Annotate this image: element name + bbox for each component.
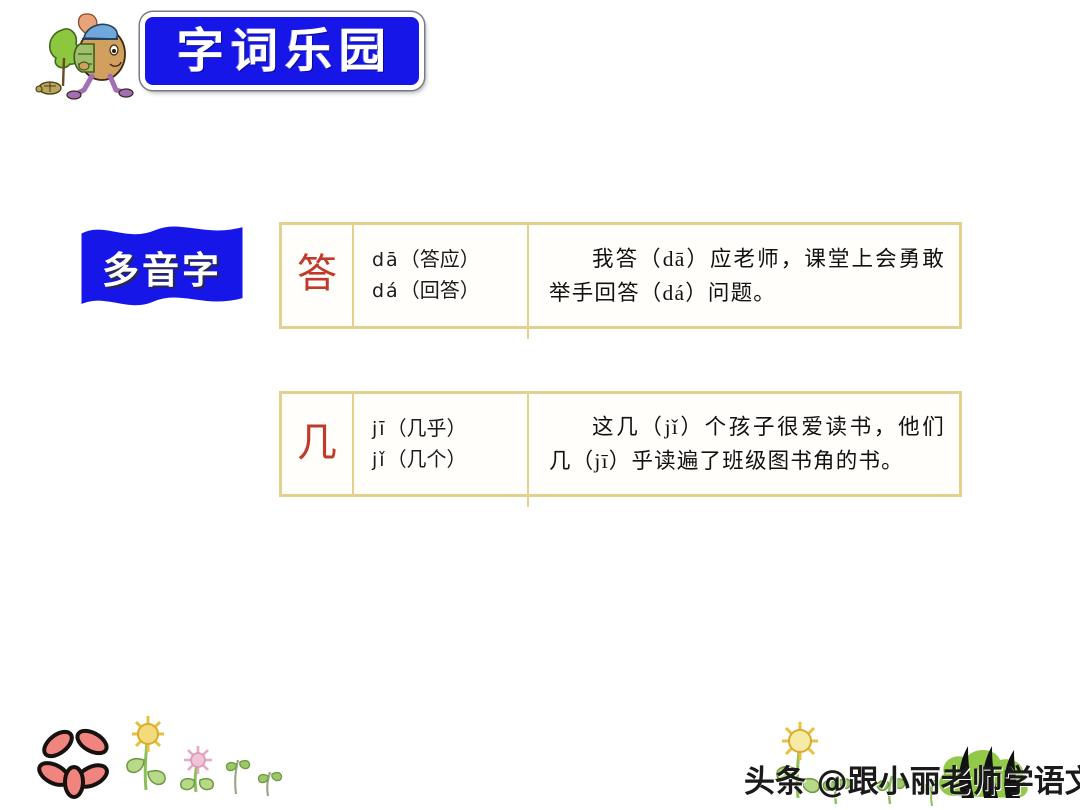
slide-canvas: 字词乐园 多音字 答 dā（答应） dá（回答） 我答（dā）应老师，课堂上会勇… (0, 0, 1080, 810)
entry-example-cell: 这几（jǐ）个孩子很爱读书，他们几（jī）乎读遍了班级图书角的书。 (529, 394, 959, 494)
entry-character-cell: 几 (282, 394, 354, 494)
entry-character: 几 (297, 423, 337, 466)
pinyin-word: （几个） (387, 449, 467, 471)
section-label-text: 多音字 (74, 216, 250, 316)
table-divider-tail (527, 495, 529, 507)
pinyin-syllable: dá (372, 280, 400, 302)
section-label-flag: 多音字 (74, 216, 250, 316)
pinyin-line: dā（答应） (372, 250, 527, 270)
pinyin-word: （回答） (400, 280, 480, 302)
watermark-text: 头条 @跟小丽老师学语文 (744, 756, 1080, 801)
page-title: 字词乐园 (171, 28, 393, 75)
pinyin-syllable: jǐ (372, 449, 387, 471)
polyphone-entry-table: 几 jī（几乎） jǐ（几个） 这几（jǐ）个孩子很爱读书，他们几（jī）乎读遍… (279, 391, 962, 497)
page-title-banner: 字词乐园 (140, 12, 424, 90)
example-sentence: 我答（dā）应老师，课堂上会勇敢举手回答（dá）问题。 (549, 242, 945, 310)
example-sentence: 这几（jǐ）个孩子很爱读书，他们几（jī）乎读遍了班级图书角的书。 (549, 410, 945, 478)
pinyin-word: （几乎） (387, 418, 467, 440)
pinyin-line: jǐ（几个） (372, 450, 527, 470)
entry-pinyin-cell: jī（几乎） jǐ（几个） (354, 394, 529, 494)
walking-egg-character-icon (26, 8, 138, 104)
pinyin-syllable: jī (372, 418, 387, 440)
entry-pinyin-cell: dā（答应） dá（回答） (354, 225, 529, 326)
pinyin-line: jī（几乎） (372, 419, 527, 439)
pinyin-line: dá（回答） (372, 281, 527, 301)
pinyin-syllable: dā (372, 249, 400, 271)
pinyin-word: （答应） (400, 249, 480, 271)
entry-example-cell: 我答（dā）应老师，课堂上会勇敢举手回答（dá）问题。 (529, 225, 959, 326)
entry-character: 答 (297, 254, 337, 297)
polyphone-entry-table: 答 dā（答应） dá（回答） 我答（dā）应老师，课堂上会勇敢举手回答（dá）… (279, 222, 962, 329)
entry-character-cell: 答 (282, 225, 354, 326)
table-divider-tail (527, 327, 529, 339)
flowers-and-sprouts-icon (24, 706, 284, 802)
